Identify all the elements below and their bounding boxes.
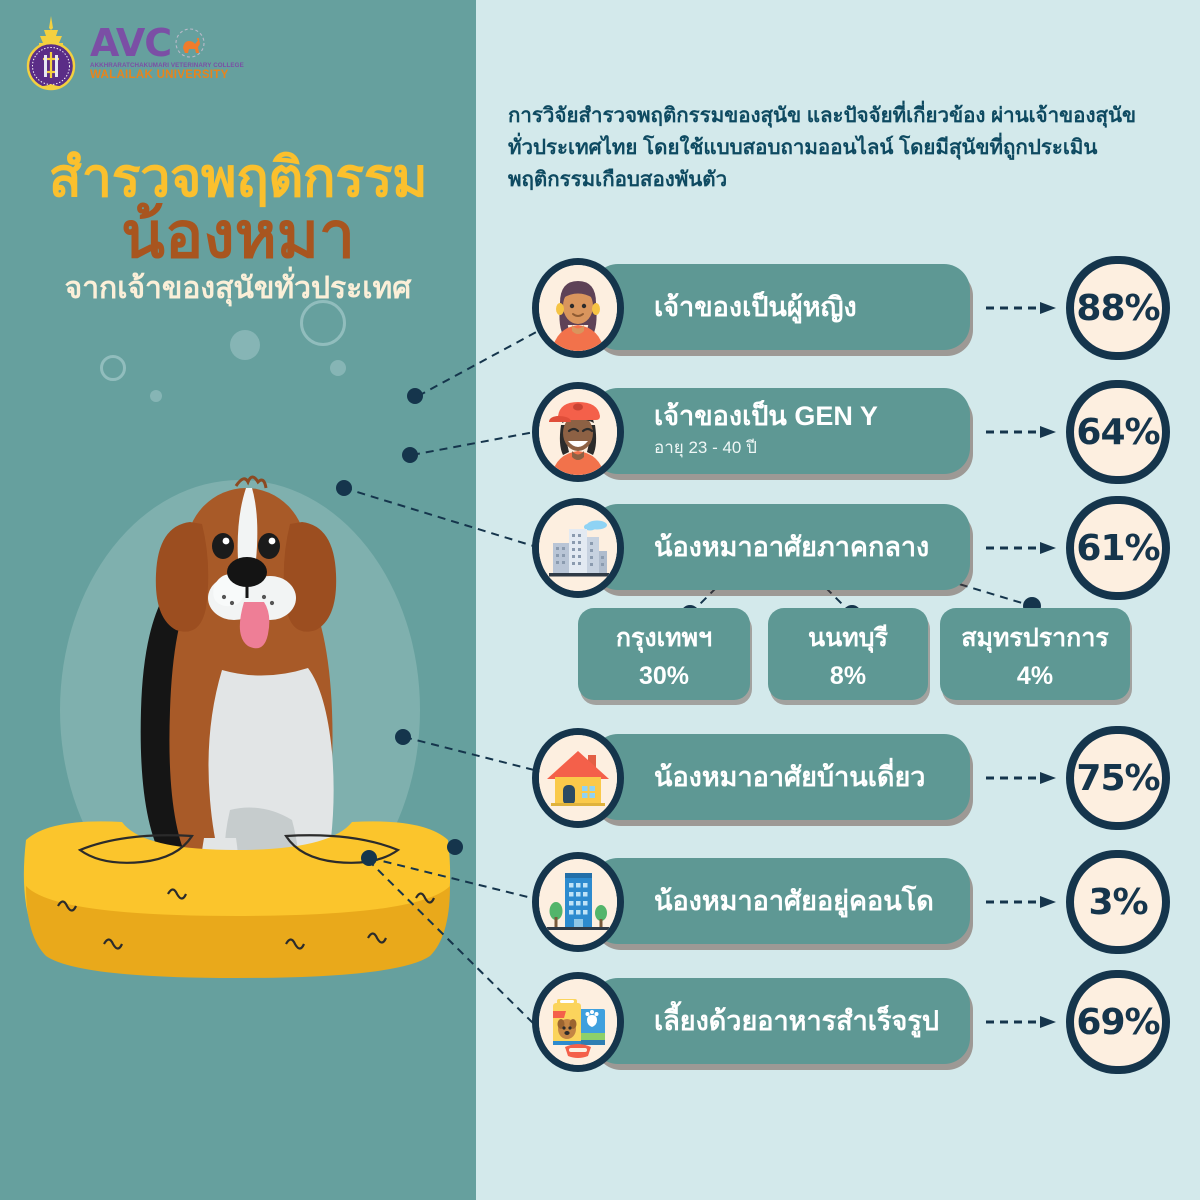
- percent-value: 64%: [1076, 412, 1159, 453]
- region-breakdown-cards: กรุงเทพฯ 30% นนทบุรี 8% สมุทรปราการ 4%: [578, 608, 1138, 708]
- stat-sublabel: อายุ 23 - 40 ปี: [654, 434, 970, 461]
- percent-badge: 61%: [1066, 496, 1170, 600]
- title-line-dog: น้องหมา: [0, 203, 476, 268]
- decorative-bubble: [150, 390, 162, 402]
- stat-row-fed-commercial-food: เลี้ยงด้วยอาหารสำเร็จรูป: [524, 972, 1184, 1072]
- title-line-source: จากเจ้าของสุนัขทั่วประเทศ: [0, 272, 476, 305]
- percent-value: 69%: [1076, 1002, 1159, 1043]
- left-panel: AVC AKKHRARATCHAKUMARI VETERINARY COLLEG…: [0, 0, 476, 1200]
- region-card-bangkok[interactable]: กรุงเทพฯ 30%: [578, 608, 750, 700]
- stat-label: น้องหมาอาศัยบ้านเดี่ยว: [654, 762, 970, 792]
- decorative-bubble: [330, 360, 346, 376]
- arrow-right-icon: [986, 302, 1060, 314]
- region-percent: 8%: [830, 662, 866, 691]
- woman-avatar-icon: [532, 258, 624, 358]
- intro-paragraph: การวิจัยสำรวจพฤติกรรมของสุนัข และปัจจัยท…: [508, 100, 1158, 195]
- percent-value: 3%: [1088, 882, 1147, 923]
- stat-row-dog-detached-house: น้องหมาอาศัยบ้านเดี่ยว 75%: [524, 728, 1184, 828]
- man-with-cap-avatar-icon: [532, 382, 624, 482]
- region-percent: 30%: [639, 662, 689, 691]
- decorative-bubble: [300, 300, 346, 346]
- region-name: สมุทรปราการ: [961, 618, 1109, 658]
- stat-pill[interactable]: เจ้าของเป็นผู้หญิง: [592, 264, 970, 350]
- stat-pill[interactable]: น้องหมาอาศัยอยู่คอนโด: [592, 858, 970, 944]
- infographic-poster: AVC AKKHRARATCHAKUMARI VETERINARY COLLEG…: [0, 0, 1200, 1200]
- decorative-bubble: [100, 355, 126, 381]
- arrow-right-icon: [986, 1016, 1060, 1028]
- percent-badge: 3%: [1066, 850, 1170, 954]
- stat-row-dog-central-region: น้องหมาอาศัยภาคกลาง: [524, 498, 1184, 598]
- brand-logo[interactable]: AVC AKKHRARATCHAKUMARI VETERINARY COLLEG…: [20, 14, 244, 92]
- stat-row-owner-gen-y: เจ้าของเป็น GEN Y อายุ 23 - 40 ปี: [524, 382, 1184, 482]
- percent-value: 61%: [1076, 528, 1159, 569]
- percent-badge: 88%: [1066, 256, 1170, 360]
- logo-subtitle-university: WALAILAK UNIVERSITY: [90, 70, 244, 82]
- dog-silhouette-icon: [173, 28, 207, 58]
- stat-pill[interactable]: น้องหมาอาศัยบ้านเดี่ยว: [592, 734, 970, 820]
- stat-row-dog-condo: น้องหมาอาศัยอยู่คอนโด: [524, 852, 1184, 952]
- stat-label: น้องหมาอาศัยอยู่คอนโด: [654, 886, 970, 916]
- region-card-nonthaburi[interactable]: นนทบุรี 8%: [768, 608, 928, 700]
- percent-value: 88%: [1076, 288, 1159, 329]
- stat-label: เลี้ยงด้วยอาหารสำเร็จรูป: [654, 1006, 970, 1036]
- stat-label: น้องหมาอาศัยภาคกลาง: [654, 532, 970, 562]
- pet-food-icon: [532, 972, 624, 1072]
- percent-badge: 64%: [1066, 380, 1170, 484]
- percent-value: 75%: [1076, 758, 1159, 799]
- stat-pill[interactable]: เจ้าของเป็น GEN Y อายุ 23 - 40 ปี: [592, 388, 970, 474]
- house-icon: [532, 728, 624, 828]
- logo-wordmark: AVC: [90, 24, 171, 62]
- logo-text-block: AVC AKKHRARATCHAKUMARI VETERINARY COLLEG…: [90, 24, 244, 82]
- stat-pill[interactable]: น้องหมาอาศัยภาคกลาง: [592, 504, 970, 590]
- beagle-dog-on-bed-illustration: [18, 420, 458, 980]
- arrow-right-icon: [986, 542, 1060, 554]
- arrow-right-icon: [986, 772, 1060, 784]
- arrow-right-icon: [986, 426, 1060, 438]
- stat-pill[interactable]: เลี้ยงด้วยอาหารสำเร็จรูป: [592, 978, 970, 1064]
- region-name: นนทบุรี: [808, 618, 888, 658]
- decorative-bubble: [230, 330, 260, 360]
- poster-title: สำรวจพฤติกรรม น้องหมา จากเจ้าของสุนัขทั่…: [0, 150, 476, 305]
- region-percent: 4%: [1017, 662, 1053, 691]
- city-buildings-icon: [532, 498, 624, 598]
- condo-building-icon: [532, 852, 624, 952]
- university-seal-icon: [20, 14, 82, 92]
- stat-label: เจ้าของเป็น GEN Y: [654, 401, 970, 431]
- percent-badge: 75%: [1066, 726, 1170, 830]
- region-card-samutprakan[interactable]: สมุทรปราการ 4%: [940, 608, 1130, 700]
- region-name: กรุงเทพฯ: [616, 618, 712, 658]
- stat-label: เจ้าของเป็นผู้หญิง: [654, 292, 970, 322]
- percent-badge: 69%: [1066, 970, 1170, 1074]
- stat-row-owner-female: เจ้าของเป็นผู้หญิง: [524, 258, 1184, 358]
- arrow-right-icon: [986, 896, 1060, 908]
